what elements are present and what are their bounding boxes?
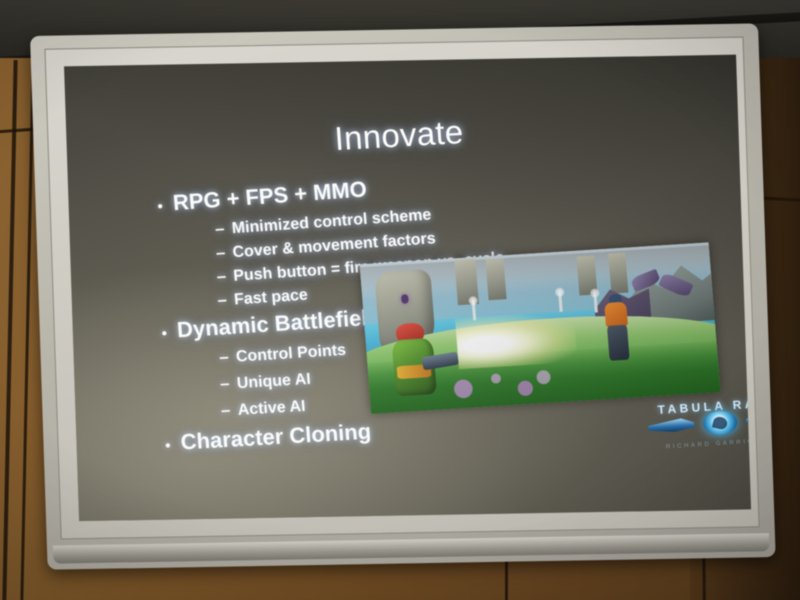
bullet-marker: – — [212, 373, 237, 394]
bullet-marker: – — [209, 290, 235, 312]
bullet-marker: – — [208, 242, 234, 264]
projection-screen: Innovate • RPG + FPS + MMO – Minimized c… — [30, 23, 776, 569]
bullet-text: Unique AI — [236, 371, 311, 393]
game-screenshot-image — [360, 242, 721, 414]
logo-subtitle: RICHARD GARRIOTT'S — [648, 436, 751, 451]
bullet-text: Fast pace — [233, 287, 308, 310]
bullet-text: Control Points — [235, 342, 346, 367]
logo-wing-right-icon — [746, 411, 751, 427]
bullet-marker: – — [213, 400, 238, 421]
screen-surface: Innovate • RPG + FPS + MMO – Minimized c… — [44, 37, 759, 540]
bullet-marker: – — [211, 347, 237, 368]
bullet-marker: • — [151, 324, 178, 343]
slide-title: Innovate — [333, 113, 464, 158]
bullet-text: Character Cloning — [180, 419, 372, 456]
projected-slide-area: Innovate • RPG + FPS + MMO – Minimized c… — [64, 55, 751, 521]
bullet-marker: • — [147, 197, 174, 216]
bullet-marker: – — [207, 218, 233, 240]
logo-swirl-emblem-icon — [702, 410, 738, 436]
wall-seam — [505, 560, 508, 600]
tabula-rasa-logo: TABULA RASA RICHARD GARRIOTT'S — [645, 394, 752, 449]
bullet-marker: – — [209, 266, 235, 288]
screenshot-sheen — [360, 242, 721, 414]
slide-content: Innovate • RPG + FPS + MMO – Minimized c… — [64, 55, 751, 521]
bullet-text: Dynamic Battlefields — [176, 303, 394, 343]
bullet-text: Active AI — [237, 398, 306, 420]
logo-wing-left-icon — [648, 418, 695, 434]
bullet-marker: • — [154, 437, 181, 455]
photo-scene: Innovate • RPG + FPS + MMO – Minimized c… — [0, 0, 800, 600]
